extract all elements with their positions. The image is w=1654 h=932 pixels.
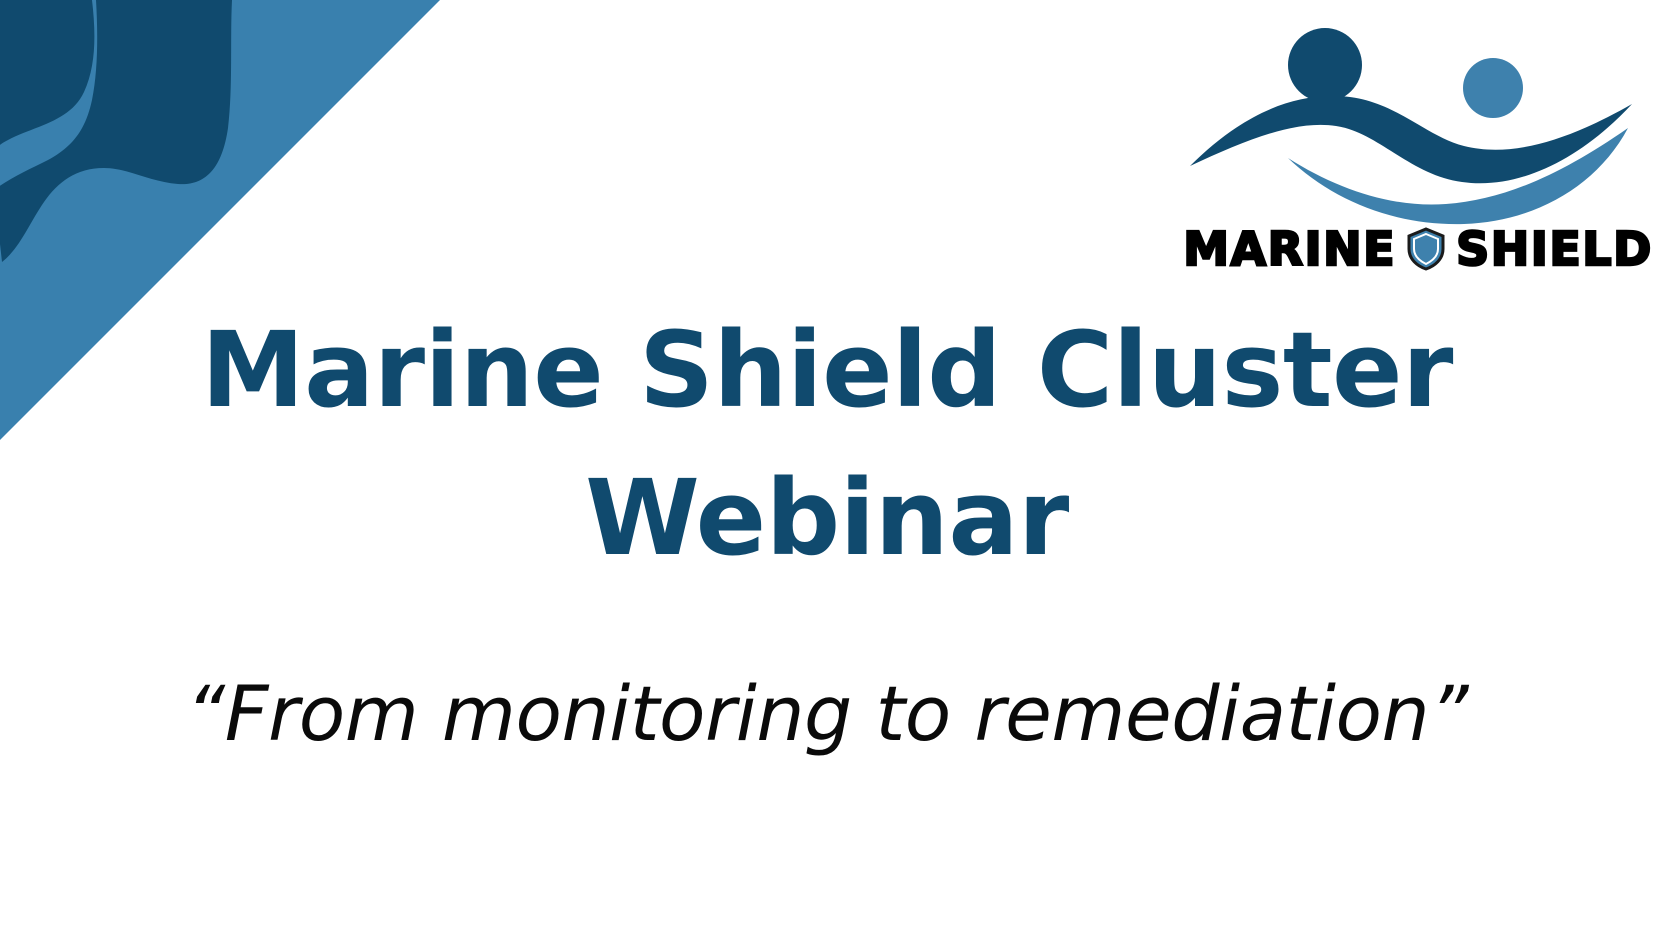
- shield-icon: [1406, 227, 1446, 271]
- logo-wordmark: MARINE SHIELD: [1188, 214, 1648, 284]
- logo-wordmark-left: MARINE: [1183, 226, 1396, 272]
- slide-subtitle: “From monitoring to remediation”: [0, 662, 1654, 766]
- slide-title: Marine Shield Cluster Webinar: [0, 296, 1654, 592]
- slide-title-line-1: Marine Shield Cluster: [0, 296, 1654, 444]
- logo-head-small-icon: [1463, 58, 1523, 118]
- marine-shield-logo: MARINE SHIELD: [1188, 18, 1648, 288]
- presentation-slide: MARINE SHIELD Marine Shield Cluster Webi…: [0, 0, 1654, 932]
- logo-wordmark-right: SHIELD: [1456, 226, 1653, 272]
- corner-blob: [0, 0, 94, 178]
- logo-head-large-icon: [1288, 28, 1362, 102]
- corner-blob-main: [0, 0, 232, 262]
- logo-swimmer-mark: [1188, 18, 1648, 228]
- slide-title-line-2: Webinar: [0, 444, 1654, 592]
